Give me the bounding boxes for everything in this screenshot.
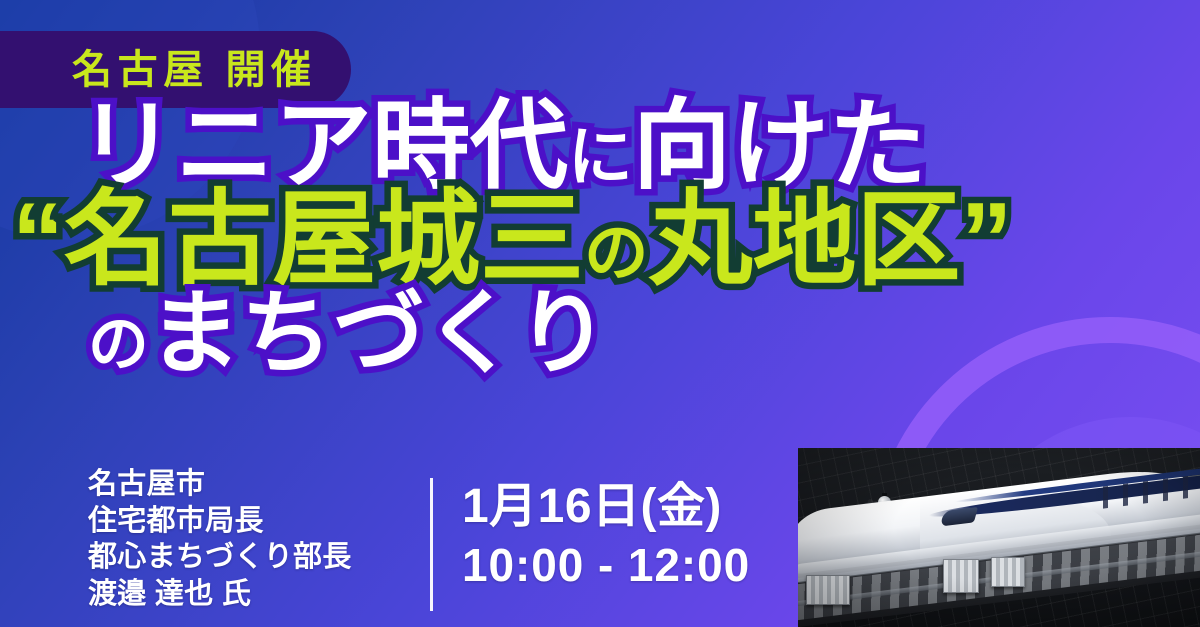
headline-line-1: リニア時代に向けた: [78, 96, 1200, 194]
speaker-organization: 名古屋市: [88, 466, 352, 503]
headline-open-quote: “: [12, 182, 64, 298]
headline-line-3-part-a: の: [88, 310, 149, 378]
headline-line-2: “名古屋城三の丸地区”: [12, 188, 1200, 292]
speaker-name: 渡邉 達也 氏: [88, 576, 352, 613]
headline-line-2-part-c: 丸地区: [649, 182, 961, 298]
vertical-divider: [430, 478, 433, 611]
headline-close-quote: ”: [961, 182, 1013, 298]
headline-line-3-part-b: まちづくり: [149, 283, 609, 385]
speaker-info: 名古屋市 住宅都市局長 都心まちづくり部長 渡邉 達也 氏: [88, 466, 352, 612]
speaker-department: 都心まちづくり部長: [88, 539, 352, 576]
headline-line-2-part-b: の: [584, 217, 648, 289]
photo-vignette: [798, 448, 1200, 627]
schedule-date: 1月16日(金): [462, 480, 750, 534]
speaker-division: 住宅都市局長: [88, 503, 352, 540]
headline-block: リニア時代に向けた “名古屋城三の丸地区” のまちづくり: [0, 96, 1200, 380]
schedule-time: 10:00 - 12:00: [462, 540, 750, 592]
location-badge-label: 名古屋 開催: [72, 50, 317, 90]
maglev-train-photo: [798, 448, 1200, 627]
schedule-info: 1月16日(金) 10:00 - 12:00: [462, 480, 750, 591]
headline-line-3: のまちづくり: [88, 288, 1200, 380]
headline-line-2-part-a: 名古屋城三: [64, 182, 584, 298]
seminar-banner: 名古屋 開催 リニア時代に向けた “名古屋城三の丸地区” のまちづくり 名古屋市…: [0, 0, 1200, 627]
